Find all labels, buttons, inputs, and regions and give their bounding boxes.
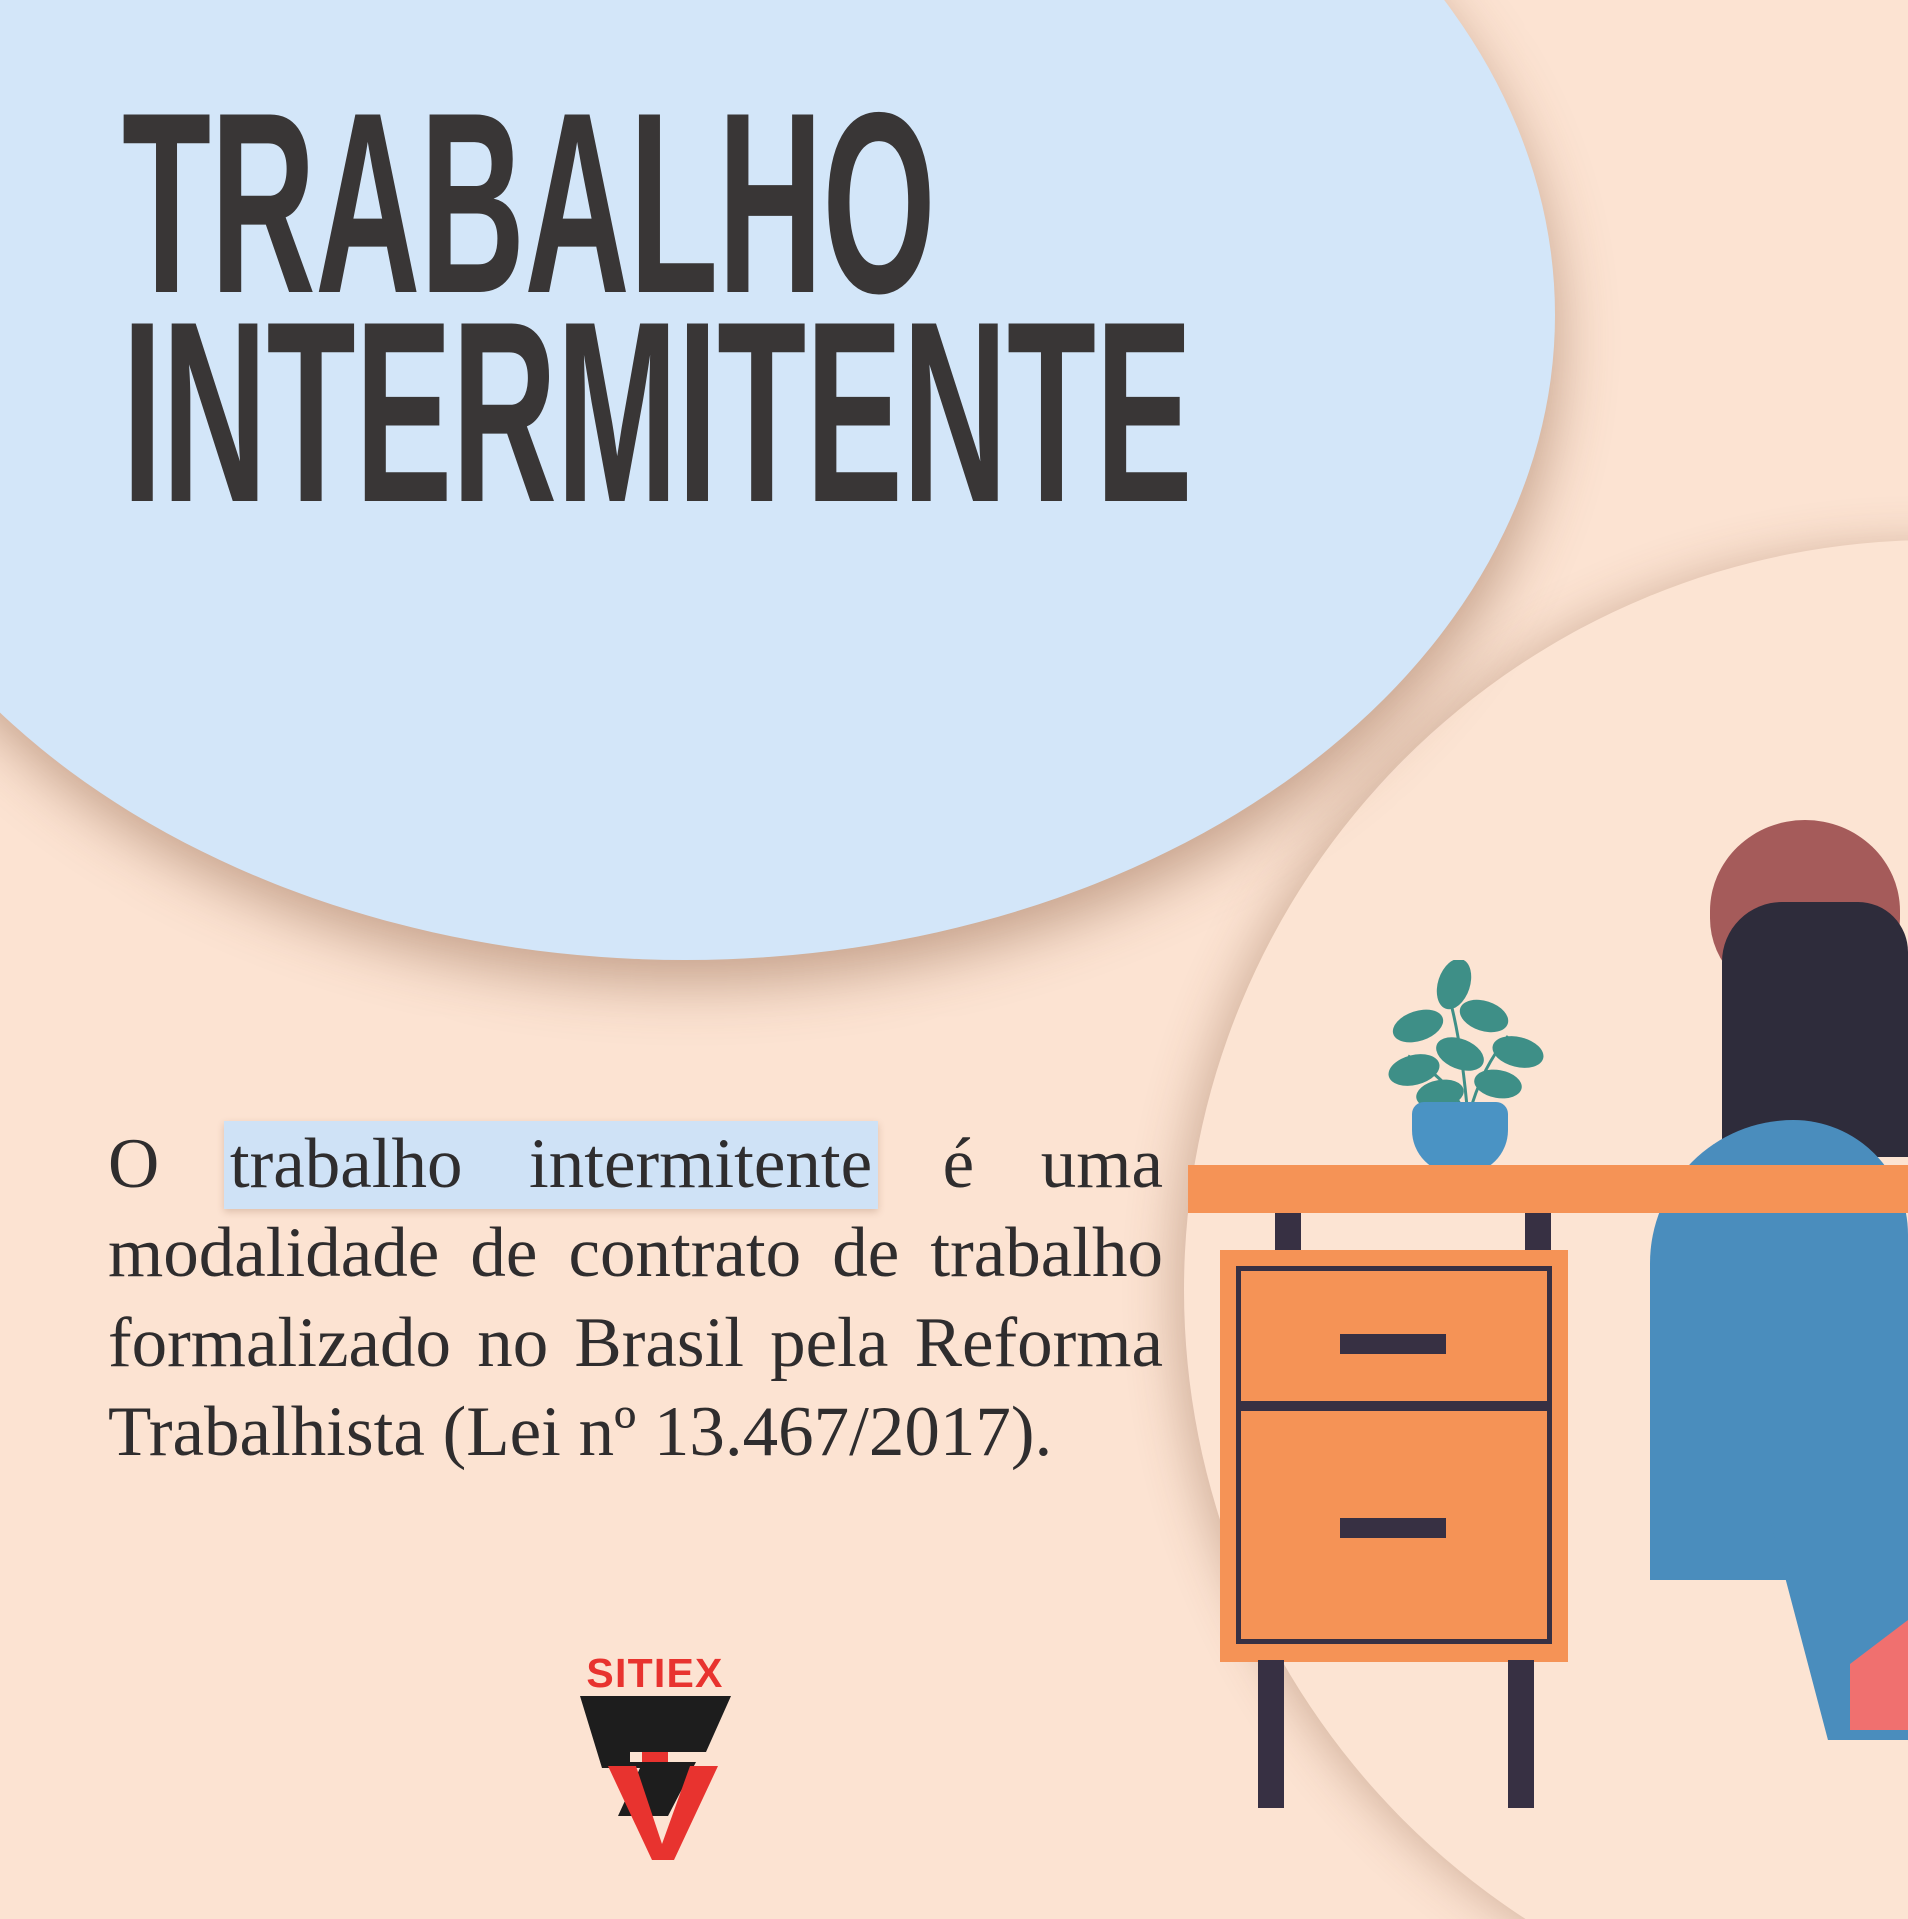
body-paragraph: O trabalho intermitente é uma modalidade…: [108, 1120, 1163, 1478]
person-hair: [1722, 902, 1908, 1157]
title-line-intermitente: INTERMITENTE: [122, 304, 1128, 521]
highlighted-term: trabalho intermitente: [224, 1121, 878, 1209]
office-scene-illustration: [1150, 820, 1908, 1919]
sitiex-logo: SITIEX: [560, 1650, 750, 1865]
drawer-handle-bottom: [1340, 1518, 1446, 1538]
poster-canvas: TRABALHO INTERMITENTE O trabalho intermi…: [0, 0, 1908, 1919]
sitiex-shield-mark-icon: [578, 1694, 733, 1862]
drawer-handle-top: [1340, 1334, 1446, 1354]
sitiex-wordmark: SITIEX: [560, 1650, 750, 1697]
plant-leaves-icon: [1368, 960, 1568, 1120]
page-title: TRABALHO INTERMITENTE: [122, 95, 1252, 520]
nightstand-cabinet: [1220, 1250, 1568, 1662]
desk-surface: [1188, 1165, 1908, 1213]
cabinet-leg-left: [1258, 1660, 1284, 1808]
cabinet-leg-right: [1508, 1660, 1534, 1808]
plant-pot: [1412, 1102, 1508, 1174]
paragraph-lead-text: O: [108, 1125, 226, 1203]
